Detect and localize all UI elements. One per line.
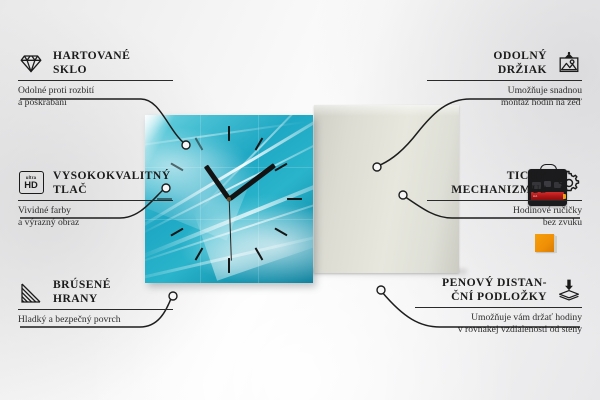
feature-silent-mechanism: TICHÝ MECHANIZMUS Hodinové ručičky bez z…: [404, 169, 582, 229]
feature-divider: [427, 200, 582, 201]
feature-heading-row: TICHÝ MECHANIZMUS: [404, 169, 582, 196]
feature-subtitle: Odolné proti rozbití a poškrábání: [18, 85, 186, 109]
ultra-hd-icon: ultra HD: [18, 170, 44, 196]
feature-durable-holder: ODOLNÝ DRŽIAK Umožňuje snadnou montáž ho…: [414, 49, 582, 109]
infographic-canvas: AA: [0, 0, 600, 400]
feature-subtitle: Hladký a bezpečný povrch: [18, 314, 190, 326]
feature-divider: [427, 80, 582, 81]
connector-dot: [377, 286, 385, 294]
feature-heading-row: PENOVÝ DISTAN- ČNÍ PODLOŽKY: [392, 276, 582, 303]
feature-heading-row: ODOLNÝ DRŽIAK: [414, 49, 582, 76]
feature-title: ODOLNÝ DRŽIAK: [493, 49, 547, 76]
feature-title: PENOVÝ DISTAN- ČNÍ PODLOŽKY: [442, 276, 547, 303]
gear-icon: [556, 170, 582, 196]
diamond-icon: [18, 50, 44, 76]
feature-heading-row: ultra HD VYSOKOKVALITNÝ TLAČ: [18, 169, 194, 196]
feature-hd-print: ultra HD VYSOKOKVALITNÝ TLAČ Vividné far…: [18, 169, 194, 229]
feature-title: HARTOVANÉ SKLO: [53, 49, 130, 76]
connector-dot: [373, 163, 381, 171]
feature-divider: [415, 307, 582, 308]
feature-subtitle: Umožňuje snadnou montáž hodin na zeď: [414, 85, 582, 109]
feature-brushed-edges: BRÚSENÉ HRANY Hladký a bezpečný povrch: [18, 278, 190, 326]
feature-title: VYSOKOKVALITNÝ TLAČ: [53, 169, 171, 196]
feature-subtitle: Umožňuje vám držať hodiny v rovnakej vzd…: [392, 312, 582, 336]
feature-title: BRÚSENÉ HRANY: [53, 278, 111, 305]
picture-frame-hanger-icon: [556, 50, 582, 76]
feature-heading-row: BRÚSENÉ HRANY: [18, 278, 190, 305]
feature-subtitle: Vividné farby a výrazný obraz: [18, 205, 194, 229]
ultra-hd-badge: ultra HD: [19, 171, 44, 194]
feature-divider: [18, 80, 173, 81]
arrow-onto-layers-icon: [556, 277, 582, 303]
brushed-edge-icon: [18, 279, 44, 305]
feature-divider: [18, 200, 173, 201]
ultra-hd-badge-main: HD: [24, 180, 38, 190]
feature-title: TICHÝ MECHANIZMUS: [451, 169, 547, 196]
feature-heading-row: HARTOVANÉ SKLO: [18, 49, 186, 76]
feature-hardened-glass: HARTOVANÉ SKLO Odolné proti rozbití a po…: [18, 49, 186, 109]
feature-subtitle: Hodinové ručičky bez zvuku: [404, 205, 582, 229]
feature-divider: [18, 309, 173, 310]
connector-dot: [182, 141, 190, 149]
feature-foam-spacers: PENOVÝ DISTAN- ČNÍ PODLOŽKY Umožňuje vám…: [392, 276, 582, 336]
